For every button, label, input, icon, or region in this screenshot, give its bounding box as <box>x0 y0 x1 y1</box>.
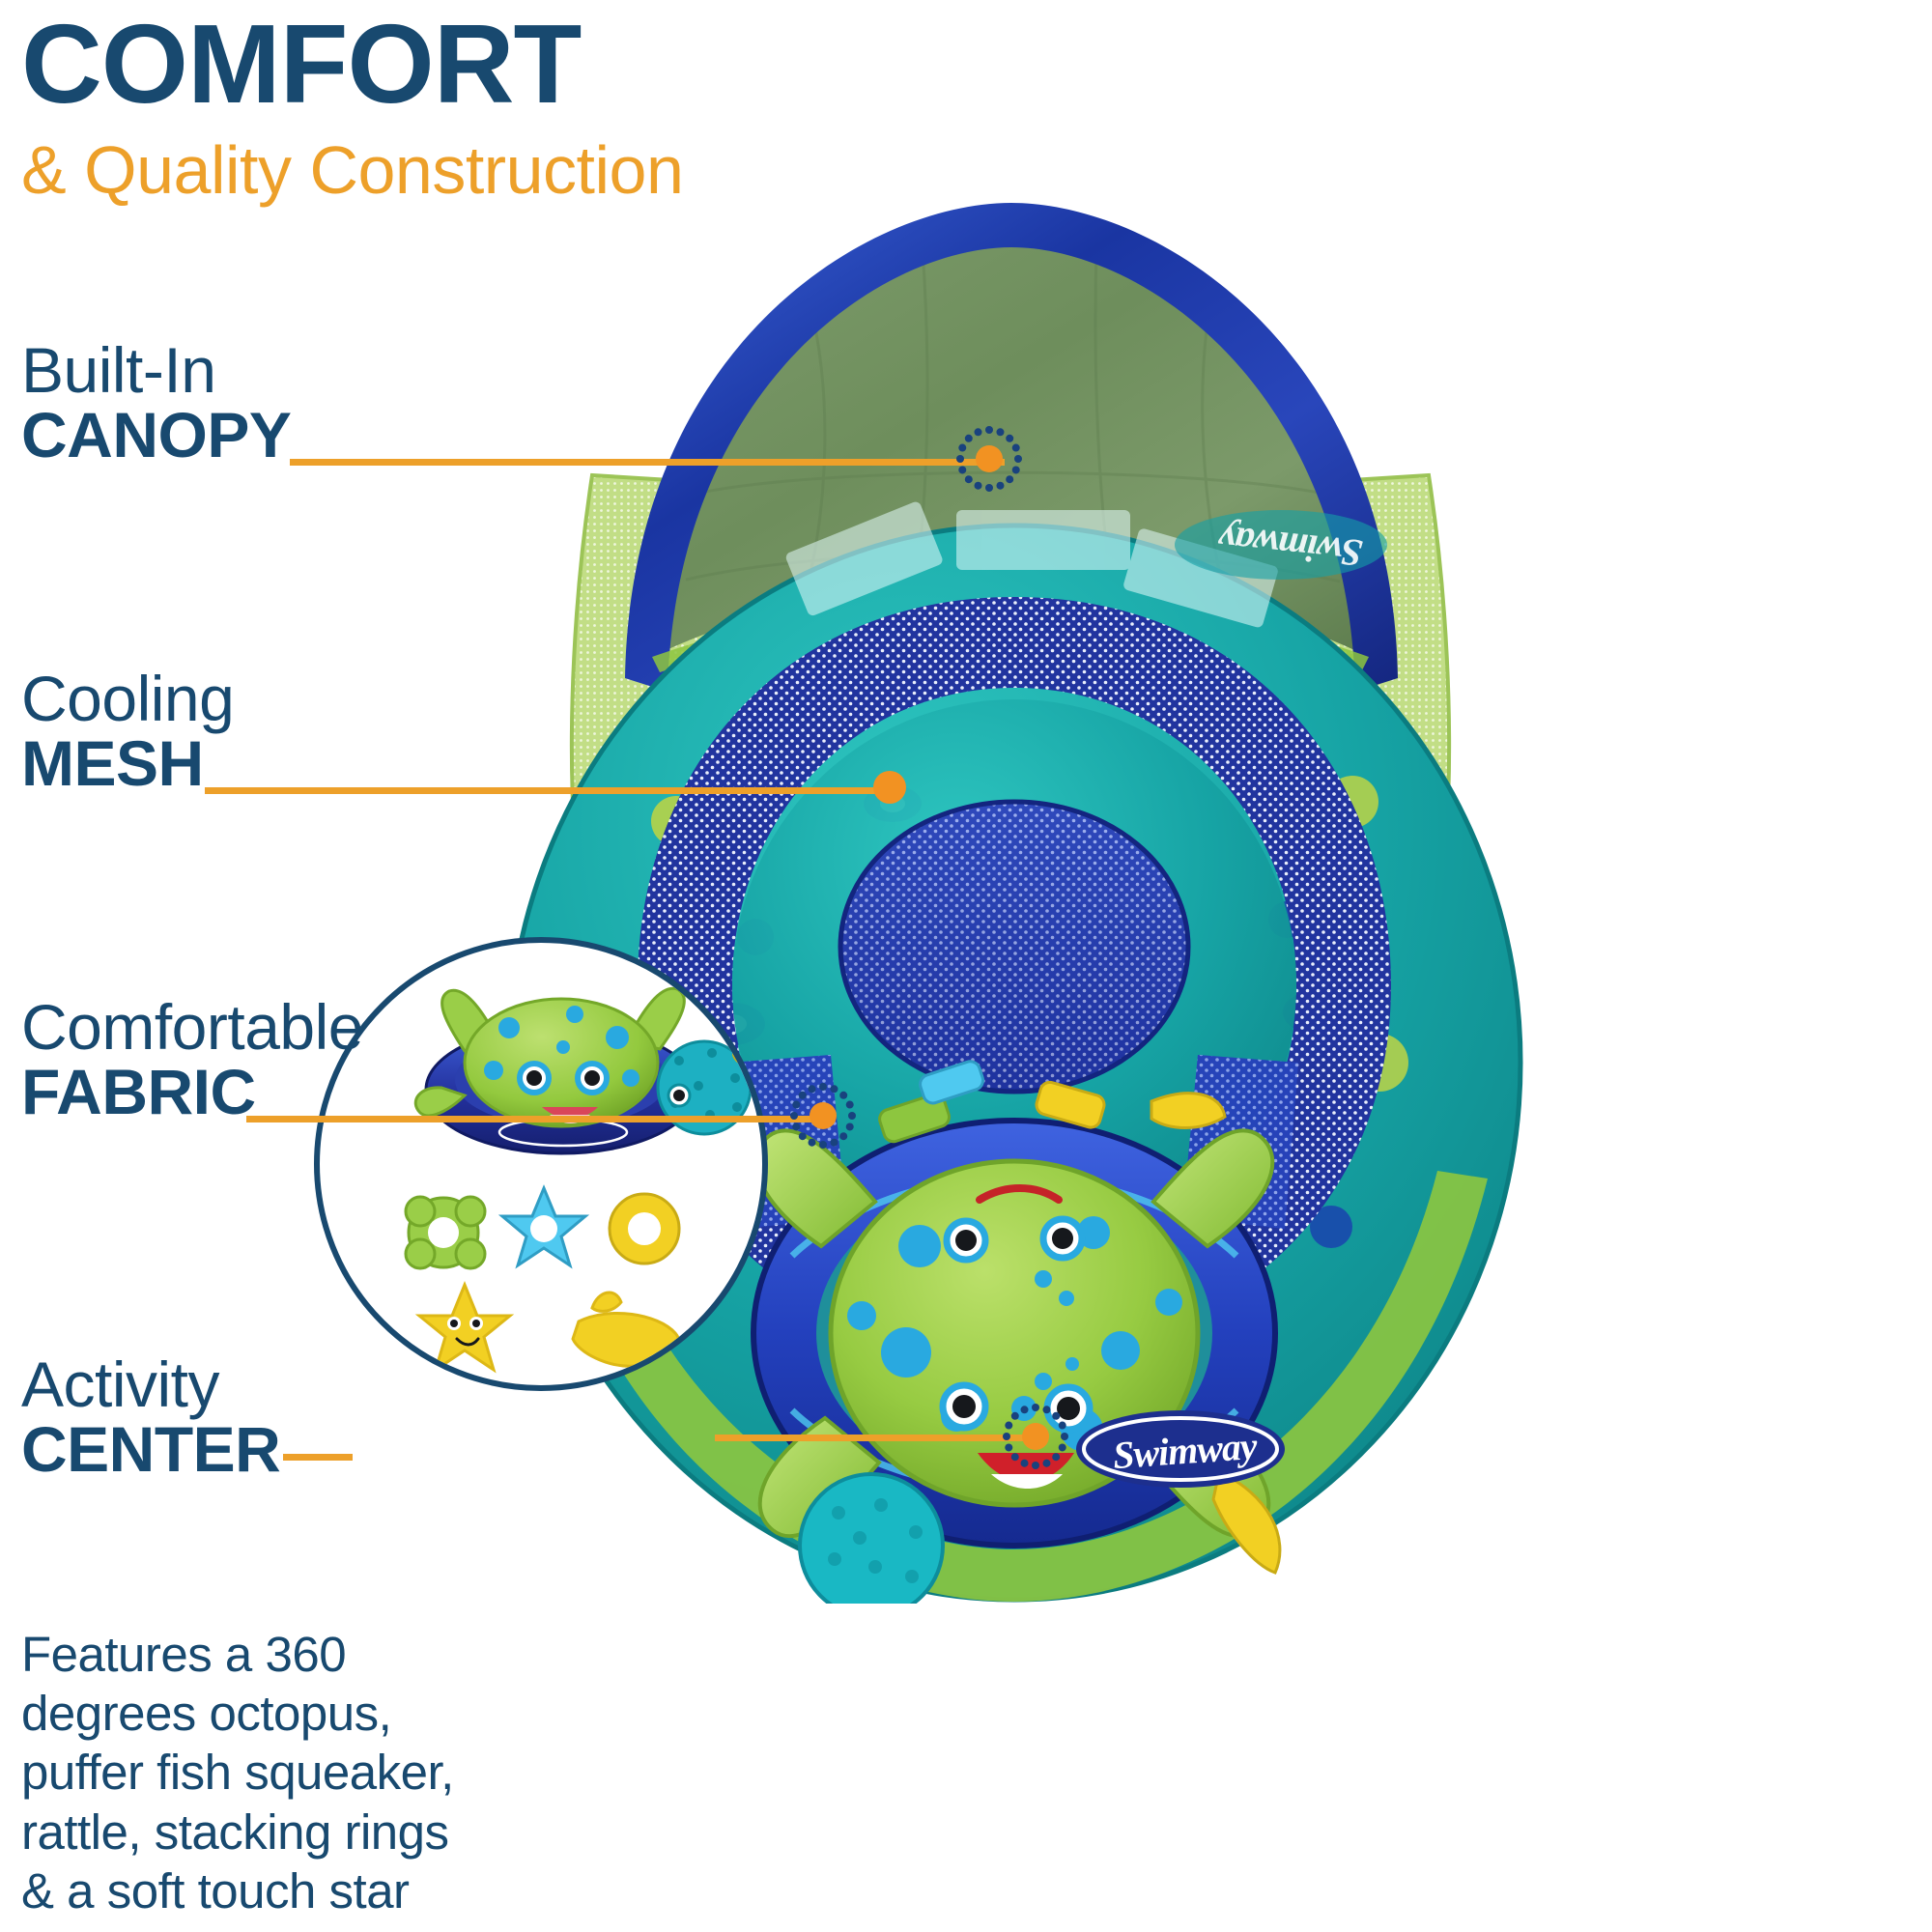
fabric-marker-core <box>810 1102 837 1129</box>
canopy-marker-dot <box>952 421 1027 497</box>
callout-canopy-line1: Built-In <box>21 338 291 403</box>
canopy-marker-core <box>976 445 1003 472</box>
activity-center-marker-core <box>1022 1423 1049 1450</box>
callout-mesh: Cooling MESH <box>21 667 234 797</box>
leader-line-center <box>283 1454 353 1461</box>
mesh-marker-dot <box>852 750 927 825</box>
mesh-marker-core <box>873 771 906 804</box>
leader-line-fabric <box>246 1116 821 1122</box>
puffer-fish-ball <box>800 1474 943 1604</box>
inset-seal-toy <box>573 1293 679 1366</box>
inset-stacking-rings <box>406 1188 679 1268</box>
callout-fabric: Comfortable FABRIC <box>21 995 363 1125</box>
callout-canopy-line2: CANOPY <box>21 403 291 468</box>
fabric-marker-dot <box>785 1078 861 1153</box>
header-block: COMFORT & Quality Construction <box>21 8 1084 207</box>
page-title: COMFORT <box>21 8 1084 120</box>
callout-center-line2: CENTER <box>21 1417 280 1482</box>
inset-soft-touch-star <box>419 1285 510 1370</box>
features-description: Features a 360 degrees octopus, puffer f… <box>21 1625 475 1920</box>
callout-mesh-line1: Cooling <box>21 667 234 731</box>
leader-line-canopy <box>290 459 1005 466</box>
activity-center-marker-dot <box>998 1399 1073 1474</box>
callout-mesh-line2: MESH <box>21 731 234 796</box>
leader-line-center-inner <box>715 1435 1034 1441</box>
callout-fabric-line1: Comfortable <box>21 995 363 1060</box>
product-illustration: Swimway Swimway <box>464 193 1932 1932</box>
leader-line-mesh <box>205 787 891 794</box>
callout-activity-center: Activity CENTER <box>21 1352 280 1483</box>
callout-center-line1: Activity <box>21 1352 280 1417</box>
activity-center-inset <box>314 937 768 1391</box>
callout-canopy: Built-In CANOPY <box>21 338 291 469</box>
